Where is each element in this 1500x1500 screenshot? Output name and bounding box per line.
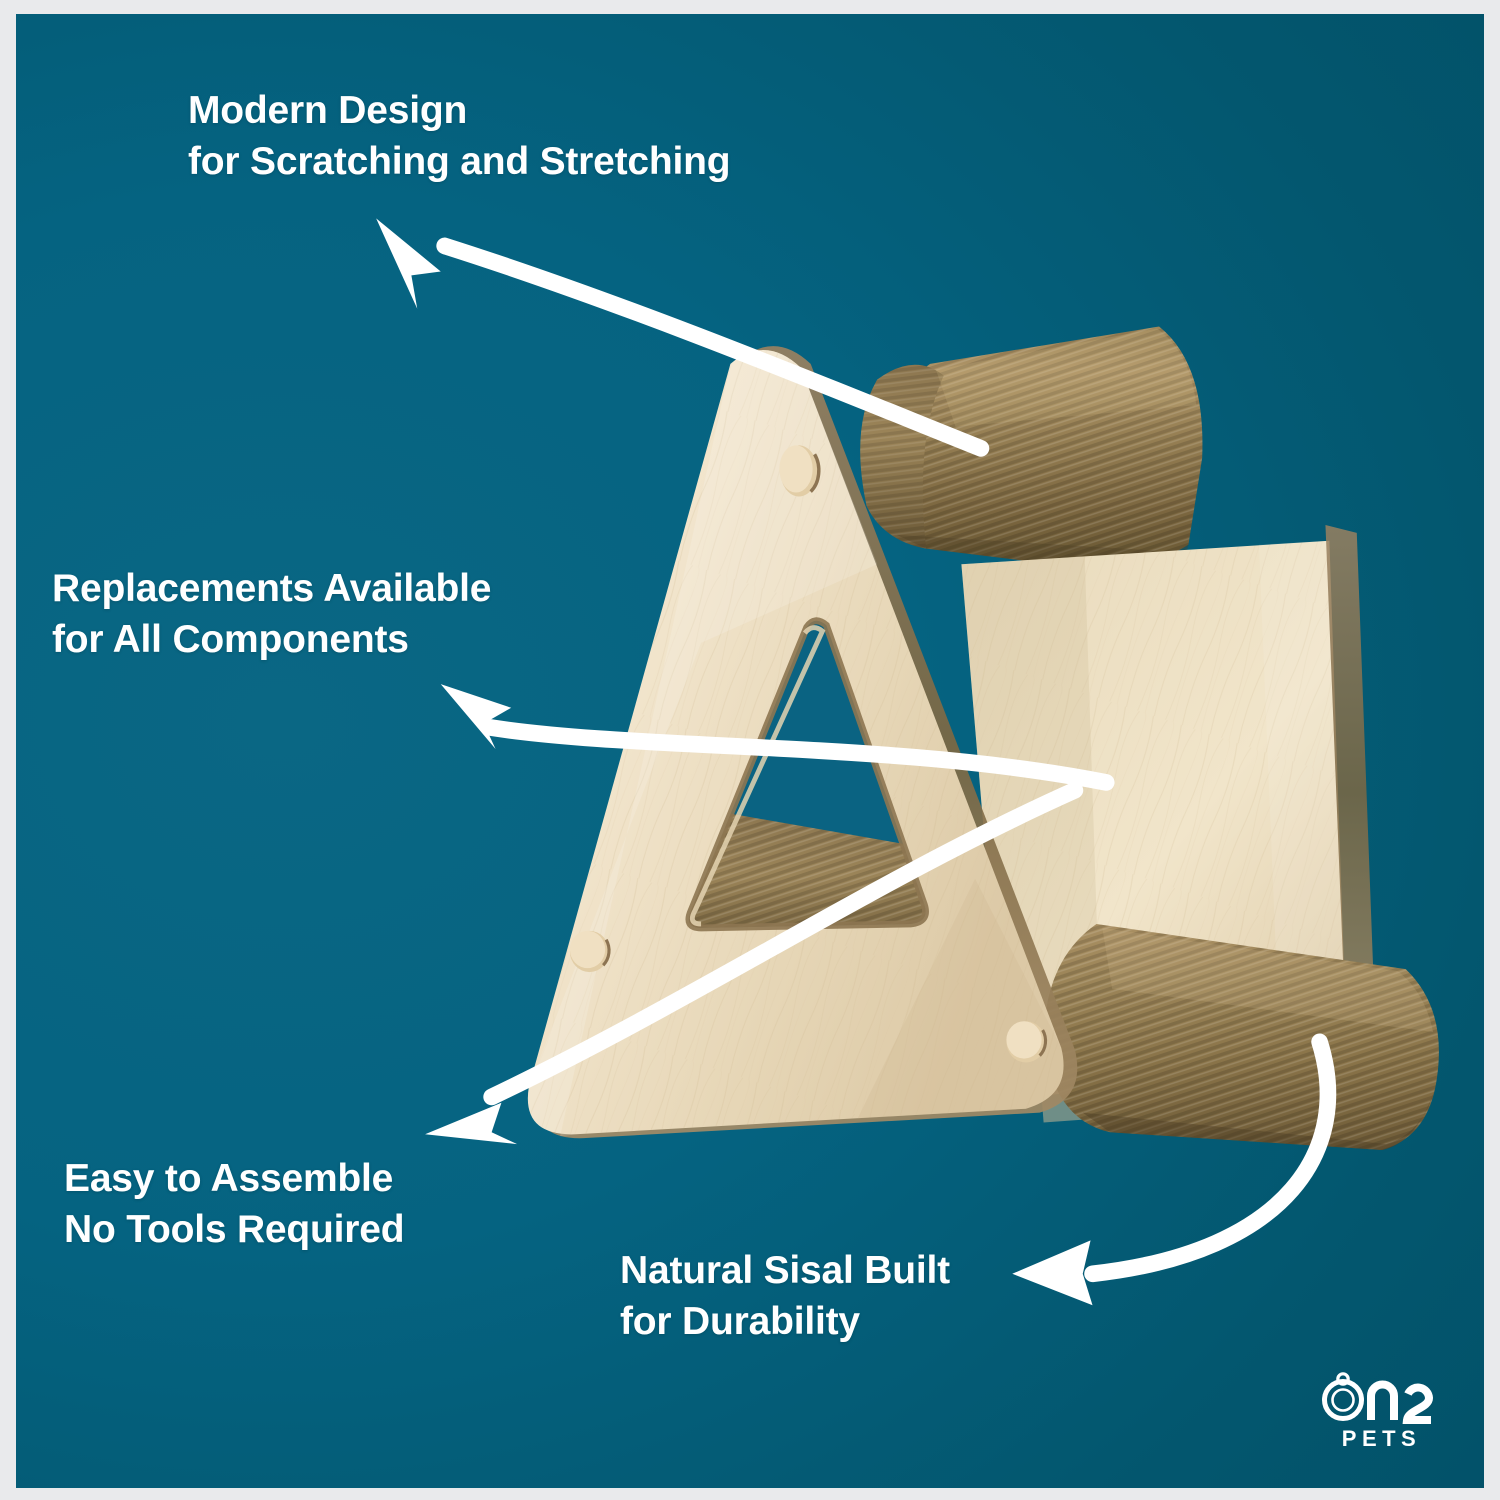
caption-modern-design: Modern Design for Scratching and Stretch…: [188, 86, 730, 187]
logo-subtitle: PETS: [1342, 1426, 1421, 1452]
caption-easy-assemble: Easy to Assemble No Tools Required: [64, 1154, 404, 1255]
brand-logo: PETS: [1316, 1370, 1442, 1452]
image-frame: Modern Design for Scratching and Stretch…: [0, 0, 1500, 1500]
infographic-canvas: Modern Design for Scratching and Stretch…: [16, 14, 1484, 1488]
dowel-plug-lower-left: [570, 931, 609, 972]
top-sisal-roller: [860, 326, 1202, 565]
dowel-plug-lower-right: [1006, 1021, 1045, 1062]
caption-natural-sisal: Natural Sisal Built for Durability: [620, 1246, 950, 1347]
caption-replacements: Replacements Available for All Component…: [52, 564, 491, 665]
pet-tag-icon: [1316, 1370, 1442, 1424]
